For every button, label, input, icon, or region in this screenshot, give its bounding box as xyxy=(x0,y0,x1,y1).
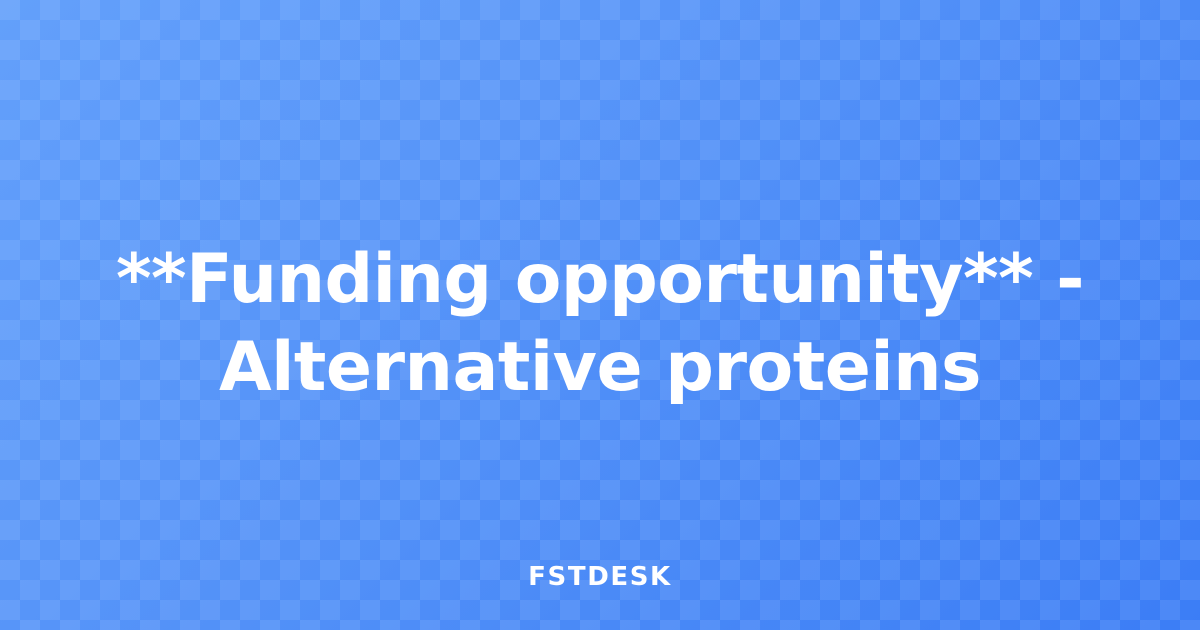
page-title: **Funding opportunity** - Alternative pr… xyxy=(50,236,1150,412)
card-footer: FSTDESK xyxy=(0,562,1200,592)
card-content: **Funding opportunity** - Alternative pr… xyxy=(50,0,1150,630)
og-share-card: **Funding opportunity** - Alternative pr… xyxy=(0,0,1200,630)
brand-wordmark: FSTDESK xyxy=(528,562,672,592)
